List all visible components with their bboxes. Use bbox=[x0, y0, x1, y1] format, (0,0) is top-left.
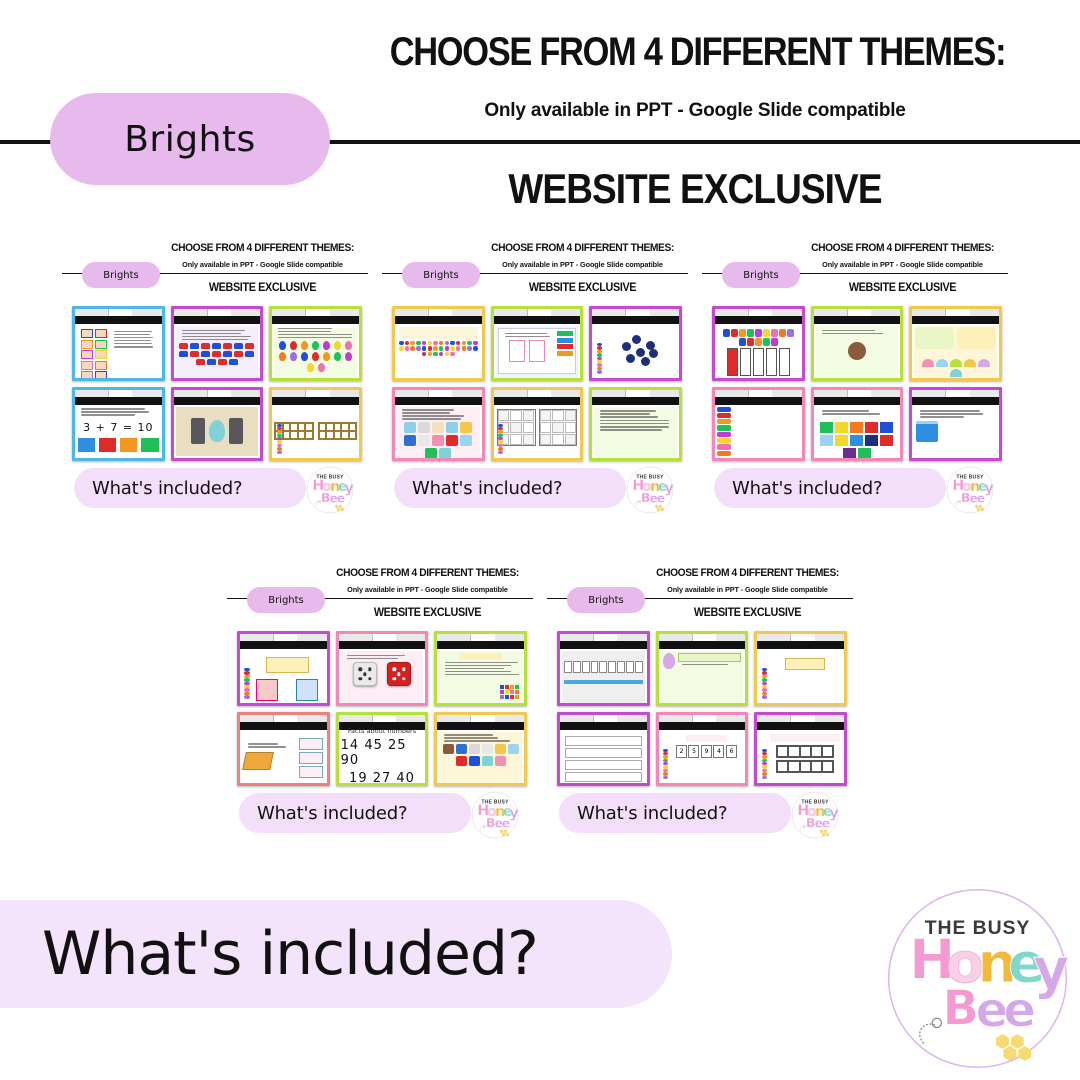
card-footer-label: What's included? bbox=[732, 478, 882, 499]
slide-tag-bar bbox=[272, 390, 359, 397]
card-subtitle: Only available in PPT - Google Slide com… bbox=[480, 260, 685, 269]
slide-grid bbox=[712, 306, 1002, 461]
slide-thumbnail[interactable] bbox=[269, 306, 362, 381]
card-footer-banner: What's included? bbox=[714, 468, 946, 508]
slide-title-bar bbox=[592, 316, 679, 324]
slide-tag-bar bbox=[814, 390, 901, 397]
slide-content bbox=[661, 651, 744, 701]
card-subtitle: Only available in PPT - Google Slide com… bbox=[800, 260, 1005, 269]
slide-title-bar bbox=[75, 316, 162, 324]
card-title: CHOOSE FROM 4 DIFFERENT THEMES: bbox=[810, 242, 995, 254]
slide-tag-left bbox=[339, 715, 373, 722]
slide-tag-bar bbox=[75, 309, 162, 316]
card-subtitle: Only available in PPT - Google Slide com… bbox=[160, 260, 365, 269]
slide-thumbnail[interactable]: Facts about numbers 14 45 25 90 19 27 40 bbox=[336, 712, 429, 787]
slide-tag-right bbox=[772, 309, 801, 316]
slide-tag-bar bbox=[560, 715, 647, 722]
slide-tag-right bbox=[297, 634, 326, 641]
slide-thumbnail[interactable] bbox=[557, 712, 650, 787]
slide-tag-right bbox=[297, 715, 326, 722]
equation-text: 3 + 7 = 10 bbox=[83, 421, 153, 434]
card-theme-pill-label: Brights bbox=[743, 270, 779, 281]
slide-content bbox=[914, 326, 997, 376]
slide-tag-left bbox=[174, 309, 208, 316]
slide-content bbox=[496, 326, 579, 376]
color-dot bbox=[277, 451, 283, 454]
card-brand-logo: THE BUSY H o n e y B e e bbox=[791, 791, 839, 839]
slide-thumbnail[interactable] bbox=[434, 631, 527, 706]
slide-thumbnail[interactable] bbox=[269, 387, 362, 462]
slide-tag-left bbox=[75, 309, 109, 316]
slide-tag-right bbox=[650, 309, 679, 316]
slide-tag-right bbox=[716, 715, 745, 722]
slide-title-bar bbox=[715, 316, 802, 324]
slide-tag-bar bbox=[395, 309, 482, 316]
slide-tag-left bbox=[757, 715, 791, 722]
card-title: CHOOSE FROM 4 DIFFERENT THEMES: bbox=[490, 242, 675, 254]
honey-bee-logo-svg: THE BUSY H o n e y B e e bbox=[791, 791, 839, 839]
slide-tag-bar bbox=[339, 634, 426, 641]
slide-content bbox=[562, 651, 645, 701]
slide-tag-right bbox=[970, 309, 999, 316]
slide-tag-right bbox=[716, 634, 745, 641]
slide-tag-right bbox=[231, 390, 260, 397]
bottom-banner-label: What's included? bbox=[42, 919, 538, 989]
slide-tag-bar bbox=[272, 309, 359, 316]
slide-tag-left bbox=[659, 634, 693, 641]
color-dot bbox=[762, 695, 768, 698]
numbers-row-1: 14 45 25 90 bbox=[341, 738, 424, 768]
slide-title-bar bbox=[814, 316, 901, 324]
svg-text:y: y bbox=[344, 480, 354, 496]
slide-tag-bar bbox=[437, 715, 524, 722]
card-exclusive-label: WEBSITE EXCLUSIVE bbox=[810, 280, 995, 294]
slide-tag-bar bbox=[715, 390, 802, 397]
number-tile: 6 bbox=[726, 745, 737, 758]
slide-tag-right bbox=[132, 309, 161, 316]
card-brand-logo: THE BUSY H o n e y B e e bbox=[626, 466, 674, 514]
die bbox=[353, 662, 377, 686]
slide-tag-left bbox=[715, 390, 749, 397]
website-exclusive-label: WEBSITE EXCLUSIVE bbox=[383, 165, 1008, 213]
slide-title-bar bbox=[339, 641, 426, 649]
slide-thumbnail[interactable] bbox=[336, 631, 429, 706]
page-header: CHOOSE FROM 4 DIFFERENT THEMES: Only ava… bbox=[0, 0, 1080, 230]
card-exclusive-label: WEBSITE EXCLUSIVE bbox=[335, 605, 520, 619]
number-tile: 4 bbox=[713, 745, 724, 758]
slide-tag-bar bbox=[757, 715, 844, 722]
slide-content bbox=[242, 651, 325, 701]
card-footer-banner: What's included? bbox=[559, 793, 791, 833]
slide-thumbnail[interactable] bbox=[589, 387, 682, 462]
slide-tag-right bbox=[330, 309, 359, 316]
svg-text:e: e bbox=[1003, 983, 1036, 1039]
slide-thumbnail[interactable] bbox=[171, 306, 264, 381]
card-title: CHOOSE FROM 4 DIFFERENT THEMES: bbox=[655, 567, 840, 579]
mockup-card-4[interactable]: CHOOSE FROM 4 DIFFERENT THEMES: Only ava… bbox=[225, 565, 535, 855]
slide-tag-bar bbox=[240, 634, 327, 641]
slide-content bbox=[242, 732, 325, 782]
slide-tag-bar bbox=[174, 309, 261, 316]
slide-tag-right bbox=[495, 715, 524, 722]
card-brand-logo: THE BUSY H o n e y B e e bbox=[471, 791, 519, 839]
card-brand-logo: THE BUSY H o n e y B e e bbox=[946, 466, 994, 514]
slide-tag-right bbox=[871, 390, 900, 397]
numbers-row-2: 19 27 40 bbox=[349, 771, 415, 786]
slide-content bbox=[816, 326, 899, 376]
slide-title-bar bbox=[659, 722, 746, 730]
slide-title-bar bbox=[395, 316, 482, 324]
card-footer: What's included? THE BUSY H o n e y B e … bbox=[394, 468, 676, 508]
slide-content bbox=[439, 732, 522, 782]
slide-tag-bar bbox=[494, 309, 581, 316]
slide-title-bar bbox=[437, 722, 524, 730]
mockup-card-3[interactable]: CHOOSE FROM 4 DIFFERENT THEMES: Only ava… bbox=[700, 240, 1010, 530]
page-subtitle: Only available in PPT - Google Slide com… bbox=[340, 100, 1050, 122]
slide-title-bar bbox=[757, 641, 844, 649]
slide-content bbox=[77, 326, 160, 376]
color-dot bbox=[762, 776, 768, 779]
svg-text:y: y bbox=[509, 805, 519, 821]
slide-thumbnail[interactable] bbox=[811, 387, 904, 462]
slide-content bbox=[816, 407, 899, 457]
svg-text:e: e bbox=[822, 815, 830, 830]
slide-title-bar bbox=[395, 397, 482, 405]
color-dot bbox=[498, 451, 504, 454]
slide-content bbox=[759, 732, 842, 782]
slide-tag-right bbox=[132, 390, 161, 397]
slide-title-bar bbox=[757, 722, 844, 730]
slide-title-bar bbox=[240, 722, 327, 730]
slide-tag-bar bbox=[75, 390, 162, 397]
slide-tag-right bbox=[772, 390, 801, 397]
honey-bee-logo-svg: THE BUSY H o n e y B e e bbox=[306, 466, 354, 514]
slide-thumbnail[interactable] bbox=[712, 387, 805, 462]
slide-title-bar bbox=[560, 722, 647, 730]
card-theme-pill: Brights bbox=[567, 587, 645, 613]
color-sidebar bbox=[497, 424, 505, 455]
slide-tag-left bbox=[560, 715, 594, 722]
svg-text:B: B bbox=[486, 815, 496, 830]
slide-title-bar bbox=[272, 397, 359, 405]
slide-thumbnail[interactable] bbox=[72, 306, 165, 381]
slide-thumbnail[interactable] bbox=[237, 631, 330, 706]
svg-text:y: y bbox=[664, 480, 674, 496]
slide-content bbox=[397, 326, 480, 376]
svg-text:e: e bbox=[502, 815, 510, 830]
slide-thumbnail[interactable] bbox=[811, 306, 904, 381]
card-footer-label: What's included? bbox=[92, 478, 242, 499]
slide-tag-left bbox=[757, 634, 791, 641]
slide-content bbox=[397, 407, 480, 457]
slide-tag-right bbox=[396, 715, 425, 722]
slide-tag-left bbox=[395, 390, 429, 397]
slide-tag-left bbox=[272, 309, 306, 316]
number-tile: 2 bbox=[676, 745, 687, 758]
slide-tag-bar bbox=[592, 390, 679, 397]
bottom-banner: What's included? bbox=[0, 900, 672, 1008]
slide-tag-left bbox=[659, 715, 693, 722]
card-theme-pill-label: Brights bbox=[268, 595, 304, 606]
slide-tag-right bbox=[551, 390, 580, 397]
slide-tag-left bbox=[339, 634, 373, 641]
slide-content bbox=[594, 407, 677, 457]
slide-tag-right bbox=[617, 715, 646, 722]
ten-frame bbox=[318, 422, 357, 440]
slide-tag-right bbox=[396, 634, 425, 641]
die bbox=[387, 662, 411, 686]
slide-thumbnail[interactable] bbox=[589, 306, 682, 381]
svg-text:B: B bbox=[942, 981, 979, 1037]
slide-tag-bar bbox=[814, 309, 901, 316]
theme-pill-brights: Brights bbox=[50, 93, 330, 185]
svg-text:y: y bbox=[829, 805, 839, 821]
slide-thumbnail[interactable] bbox=[434, 712, 527, 787]
slide-content bbox=[594, 326, 677, 376]
color-dot bbox=[244, 695, 250, 698]
slide-title-bar bbox=[912, 316, 999, 324]
slide-thumbnail[interactable]: 25946 bbox=[656, 712, 749, 787]
slide-tag-left bbox=[814, 390, 848, 397]
color-sidebar bbox=[243, 668, 251, 699]
slide-tag-left bbox=[715, 309, 749, 316]
svg-text:y: y bbox=[1033, 937, 1069, 1002]
slide-tag-left bbox=[814, 309, 848, 316]
slide-title-bar bbox=[272, 316, 359, 324]
card-theme-pill: Brights bbox=[402, 262, 480, 288]
number-tile: 5 bbox=[688, 745, 699, 758]
slide-thumbnail[interactable]: 3 + 7 = 10 bbox=[72, 387, 165, 462]
slide-tag-right bbox=[815, 715, 844, 722]
page-title: CHOOSE FROM 4 DIFFERENT THEMES: bbox=[390, 30, 1001, 75]
slide-content bbox=[341, 651, 424, 701]
slide-tag-left bbox=[494, 309, 528, 316]
slide-thumbnail[interactable] bbox=[909, 306, 1002, 381]
card-theme-pill: Brights bbox=[247, 587, 325, 613]
card-footer-label: What's included? bbox=[257, 803, 407, 824]
slide-thumbnail[interactable] bbox=[392, 387, 485, 462]
slide-tag-bar bbox=[560, 634, 647, 641]
slide-tag-bar bbox=[339, 715, 426, 722]
card-subtitle: Only available in PPT - Google Slide com… bbox=[645, 585, 850, 594]
card-footer-banner: What's included? bbox=[74, 468, 306, 508]
card-footer-banner: What's included? bbox=[239, 793, 471, 833]
slide-tag-right bbox=[452, 309, 481, 316]
slide-tag-left bbox=[272, 390, 306, 397]
slide-tag-left bbox=[912, 309, 946, 316]
card-subtitle: Only available in PPT - Google Slide com… bbox=[325, 585, 530, 594]
slide-content: Facts about numbers 14 45 25 90 19 27 40 bbox=[341, 732, 424, 782]
card-footer-label: What's included? bbox=[577, 803, 727, 824]
svg-text:B: B bbox=[321, 490, 331, 505]
slide-title-bar bbox=[814, 397, 901, 405]
slide-tag-bar bbox=[912, 390, 999, 397]
card-theme-pill: Brights bbox=[82, 262, 160, 288]
slide-thumbnail[interactable] bbox=[392, 306, 485, 381]
slide-title-bar bbox=[592, 397, 679, 405]
slide-content bbox=[176, 326, 259, 376]
svg-text:B: B bbox=[806, 815, 816, 830]
slide-title-bar bbox=[75, 397, 162, 405]
honey-bee-logo-svg: THE BUSY H o n e y B e e bbox=[471, 791, 519, 839]
slide-thumbnail[interactable] bbox=[656, 631, 749, 706]
slide-tag-bar bbox=[715, 309, 802, 316]
mockup-card-1[interactable]: CHOOSE FROM 4 DIFFERENT THEMES: Only ava… bbox=[60, 240, 370, 530]
slide-tag-left bbox=[240, 634, 274, 641]
slide-tag-right bbox=[452, 390, 481, 397]
slide-content bbox=[274, 407, 357, 457]
svg-text:B: B bbox=[641, 490, 651, 505]
slide-tag-right bbox=[871, 309, 900, 316]
slide-content bbox=[759, 651, 842, 701]
slide-caption: Facts about numbers bbox=[348, 727, 416, 735]
slide-tag-left bbox=[494, 390, 528, 397]
slide-tag-bar bbox=[437, 634, 524, 641]
slide-thumbnail[interactable] bbox=[909, 387, 1002, 462]
slide-tag-bar bbox=[395, 390, 482, 397]
slide-content bbox=[717, 407, 800, 457]
slide-grid: 3 + 7 = 10 bbox=[72, 306, 362, 461]
card-title: CHOOSE FROM 4 DIFFERENT THEMES: bbox=[170, 242, 355, 254]
slide-tag-right bbox=[650, 390, 679, 397]
card-footer: What's included? THE BUSY H o n e y B e … bbox=[239, 793, 521, 833]
slide-tag-bar bbox=[912, 309, 999, 316]
slide-title-bar bbox=[174, 316, 261, 324]
slide-tag-bar bbox=[494, 390, 581, 397]
card-footer-label: What's included? bbox=[412, 478, 562, 499]
slide-tag-left bbox=[592, 309, 626, 316]
slide-content bbox=[439, 651, 522, 701]
slide-tag-bar bbox=[757, 634, 844, 641]
card-footer: What's included? THE BUSY H o n e y B e … bbox=[559, 793, 841, 833]
slide-title-bar bbox=[715, 397, 802, 405]
slide-grid bbox=[392, 306, 682, 461]
slide-tag-right bbox=[551, 309, 580, 316]
slide-thumbnail[interactable] bbox=[712, 306, 805, 381]
card-footer: What's included? THE BUSY H o n e y B e … bbox=[714, 468, 996, 508]
slide-tag-bar bbox=[240, 715, 327, 722]
theme-pill-label: Brights bbox=[124, 119, 256, 160]
card-exclusive-label: WEBSITE EXCLUSIVE bbox=[655, 605, 840, 619]
slide-tag-right bbox=[330, 390, 359, 397]
card-theme-pill: Brights bbox=[722, 262, 800, 288]
slide-thumbnail[interactable] bbox=[557, 631, 650, 706]
color-sidebar bbox=[275, 424, 283, 455]
brand-logo: THE BUSY H o n e y B e e bbox=[885, 886, 1070, 1071]
slide-title-bar bbox=[659, 641, 746, 649]
slide-thumbnail[interactable] bbox=[491, 387, 584, 462]
color-dot bbox=[663, 776, 669, 779]
slide-tag-bar bbox=[174, 390, 261, 397]
slide-title-bar bbox=[912, 397, 999, 405]
slide-title-bar bbox=[494, 316, 581, 324]
slide-thumbnail[interactable] bbox=[171, 387, 264, 462]
mockup-card-5[interactable]: CHOOSE FROM 4 DIFFERENT THEMES: Only ava… bbox=[545, 565, 855, 855]
slide-content bbox=[717, 326, 800, 376]
card-theme-pill-label: Brights bbox=[103, 270, 139, 281]
slide-content bbox=[274, 326, 357, 376]
slide-content bbox=[562, 732, 645, 782]
slide-tag-left bbox=[437, 715, 471, 722]
slide-content bbox=[914, 407, 997, 457]
slide-tag-left bbox=[75, 390, 109, 397]
slide-thumbnail[interactable] bbox=[754, 712, 847, 787]
slide-title-bar bbox=[437, 641, 524, 649]
card-brand-logo: THE BUSY H o n e y B e e bbox=[306, 466, 354, 514]
slide-content bbox=[176, 407, 259, 457]
svg-text:B: B bbox=[961, 490, 971, 505]
slide-title-bar bbox=[240, 641, 327, 649]
card-footer-banner: What's included? bbox=[394, 468, 626, 508]
slide-tag-left bbox=[395, 309, 429, 316]
slide-title-bar bbox=[174, 397, 261, 405]
slide-content: 25946 bbox=[661, 732, 744, 782]
color-sidebar bbox=[760, 668, 768, 699]
slide-thumbnail[interactable] bbox=[754, 631, 847, 706]
slide-thumbnail[interactable] bbox=[491, 306, 584, 381]
honey-bee-logo-svg: THE BUSY H o n e y B e e bbox=[626, 466, 674, 514]
card-exclusive-label: WEBSITE EXCLUSIVE bbox=[170, 280, 355, 294]
slide-tag-left bbox=[437, 634, 471, 641]
slide-tag-right bbox=[495, 634, 524, 641]
card-theme-pill-label: Brights bbox=[588, 595, 624, 606]
svg-text:e: e bbox=[977, 490, 985, 505]
slide-tag-left bbox=[240, 715, 274, 722]
slide-tag-bar bbox=[659, 634, 746, 641]
card-footer: What's included? THE BUSY H o n e y B e … bbox=[74, 468, 356, 508]
slide-tag-right bbox=[231, 309, 260, 316]
card-exclusive-label: WEBSITE EXCLUSIVE bbox=[490, 280, 675, 294]
slide-grid: 25946 bbox=[557, 631, 847, 786]
slide-title-bar bbox=[494, 397, 581, 405]
honey-bee-logo-svg: THE BUSY H o n e y B e e bbox=[885, 886, 1070, 1071]
slide-tag-right bbox=[970, 390, 999, 397]
slide-tag-left bbox=[592, 390, 626, 397]
card-theme-pill-label: Brights bbox=[423, 270, 459, 281]
slide-tag-left bbox=[912, 390, 946, 397]
slide-content: 3 + 7 = 10 bbox=[77, 407, 160, 457]
slide-title-bar bbox=[560, 641, 647, 649]
slide-tag-bar bbox=[592, 309, 679, 316]
slide-tag-right bbox=[617, 634, 646, 641]
slide-tag-left bbox=[174, 390, 208, 397]
svg-text:e: e bbox=[337, 490, 345, 505]
svg-text:y: y bbox=[984, 480, 994, 496]
slide-thumbnail[interactable] bbox=[237, 712, 330, 787]
slide-tag-bar bbox=[659, 715, 746, 722]
mockup-card-2[interactable]: CHOOSE FROM 4 DIFFERENT THEMES: Only ava… bbox=[380, 240, 690, 530]
color-sidebar bbox=[662, 749, 670, 780]
card-title: CHOOSE FROM 4 DIFFERENT THEMES: bbox=[335, 567, 520, 579]
svg-text:e: e bbox=[657, 490, 665, 505]
slide-tag-left bbox=[560, 634, 594, 641]
color-sidebar bbox=[760, 749, 768, 780]
slide-content bbox=[496, 407, 579, 457]
slide-tag-right bbox=[815, 634, 844, 641]
honey-bee-logo-svg: THE BUSY H o n e y B e e bbox=[946, 466, 994, 514]
number-tile: 9 bbox=[701, 745, 712, 758]
slide-grid: Facts about numbers 14 45 25 90 19 27 40 bbox=[237, 631, 527, 786]
